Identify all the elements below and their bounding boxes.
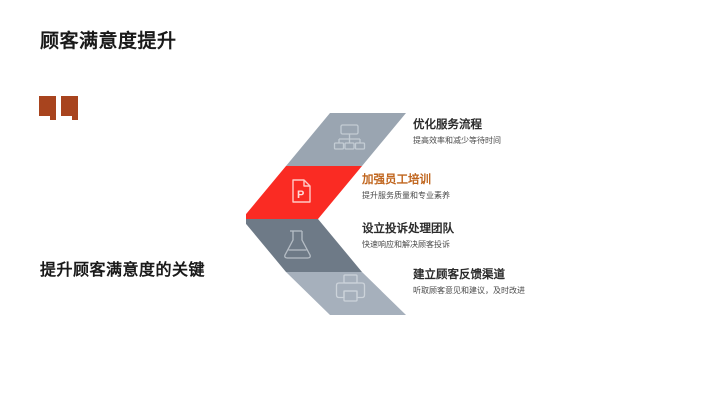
diagram-item-4: 建立顾客反馈渠道 听取顾客意见和建议，及时改进 [413, 268, 525, 296]
chevron-band-4 [286, 272, 406, 315]
slide-canvas: 顾客满意度提升 提升顾客满意度的关键 [0, 0, 720, 404]
diagram-item-1: 优化服务流程 提高效率和减少等待时间 [413, 118, 501, 146]
chevron-band-2: P [246, 166, 362, 219]
key-caption: 提升顾客满意度的关键 [40, 256, 205, 280]
page-title: 顾客满意度提升 [40, 26, 177, 53]
svg-text:P: P [297, 189, 304, 201]
chevron-diagram: P [246, 108, 416, 320]
chevron-band-3 [246, 219, 362, 272]
diagram-item-1-subtitle: 提高效率和减少等待时间 [413, 136, 501, 147]
diagram-item-2-title: 加强员工培训 [362, 173, 450, 189]
diagram-item-4-subtitle: 听取顾客意见和建议，及时改进 [413, 286, 525, 297]
diagram-item-3: 设立投诉处理团队 快速响应和解决顾客投诉 [362, 222, 454, 250]
diagram-item-3-title: 设立投诉处理团队 [362, 222, 454, 238]
diagram-item-2-subtitle: 提升服务质量和专业素养 [362, 191, 450, 202]
diagram-item-3-subtitle: 快速响应和解决顾客投诉 [362, 240, 454, 251]
chevron-band-1 [286, 113, 406, 166]
diagram-item-2: 加强员工培训 提升服务质量和专业素养 [362, 173, 450, 201]
diagram-item-1-title: 优化服务流程 [413, 118, 501, 134]
quote-mark-icon [37, 86, 83, 128]
diagram-item-4-title: 建立顾客反馈渠道 [413, 268, 525, 284]
